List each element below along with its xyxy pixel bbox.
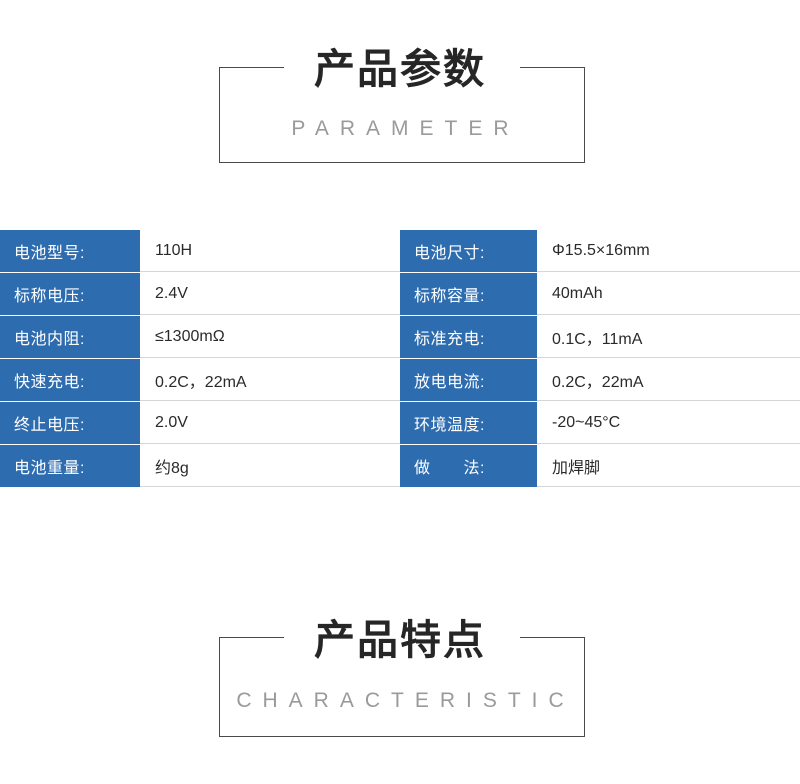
- param-value: 约8g: [140, 445, 400, 487]
- param-label: 电池型号:: [0, 230, 140, 272]
- param-label: 环境温度:: [400, 402, 537, 444]
- table-half-left: 快速充电: 0.2C，22mA: [0, 359, 400, 401]
- table-half-left: 电池型号: 110H: [0, 230, 400, 272]
- table-half-left: 标称电压: 2.4V: [0, 273, 400, 315]
- param-label: 终止电压:: [0, 402, 140, 444]
- param-value: 2.0V: [140, 402, 400, 444]
- page-title: 产品特点: [0, 620, 800, 661]
- param-label: 电池重量:: [0, 445, 140, 487]
- param-label: 标准充电:: [400, 316, 537, 358]
- table-half-left: 电池重量: 约8g: [0, 445, 400, 487]
- param-label: 电池内阻:: [0, 316, 140, 358]
- param-value: Φ15.5×16mm: [537, 230, 800, 272]
- table-half-left: 电池内阻: ≤1300mΩ: [0, 316, 400, 358]
- param-value: 0.2C，22mA: [140, 359, 400, 401]
- table-row: 电池型号: 110H 电池尺寸: Φ15.5×16mm: [0, 230, 800, 272]
- parameter-table: 电池型号: 110H 电池尺寸: Φ15.5×16mm 标称电压: 2.4V 标…: [0, 230, 800, 487]
- param-label: 快速充电:: [0, 359, 140, 401]
- param-value: -20~45°C: [537, 402, 800, 444]
- param-value: 110H: [140, 230, 400, 272]
- param-label: 电池尺寸:: [400, 230, 537, 272]
- table-half-right: 标准充电: 0.1C，11mA: [400, 316, 800, 358]
- param-value: 0.1C，11mA: [537, 316, 800, 358]
- table-half-right: 环境温度: -20~45°C: [400, 402, 800, 444]
- param-label: 标称电压:: [0, 273, 140, 315]
- param-label: 做 法:: [400, 445, 537, 487]
- param-value: 2.4V: [140, 273, 400, 315]
- table-row: 快速充电: 0.2C，22mA 放电电流: 0.2C，22mA: [0, 359, 800, 401]
- table-half-right: 放电电流: 0.2C，22mA: [400, 359, 800, 401]
- table-half-right: 电池尺寸: Φ15.5×16mm: [400, 230, 800, 272]
- table-row: 电池内阻: ≤1300mΩ 标准充电: 0.1C，11mA: [0, 316, 800, 358]
- param-value: 40mAh: [537, 273, 800, 315]
- param-value: 0.2C，22mA: [537, 359, 800, 401]
- param-value: 加焊脚: [537, 445, 800, 487]
- param-label: 标称容量:: [400, 273, 537, 315]
- page-subtitle: CHARACTERISTIC: [0, 690, 800, 711]
- table-half-right: 标称容量: 40mAh: [400, 273, 800, 315]
- page-title: 产品参数: [0, 49, 800, 90]
- table-row: 电池重量: 约8g 做 法: 加焊脚: [0, 445, 800, 487]
- table-half-right: 做 法: 加焊脚: [400, 445, 800, 487]
- param-label: 放电电流:: [400, 359, 537, 401]
- page-subtitle: PARAMETER: [0, 118, 800, 139]
- param-value: ≤1300mΩ: [140, 316, 400, 358]
- table-row: 终止电压: 2.0V 环境温度: -20~45°C: [0, 402, 800, 444]
- table-half-left: 终止电压: 2.0V: [0, 402, 400, 444]
- table-row: 标称电压: 2.4V 标称容量: 40mAh: [0, 273, 800, 315]
